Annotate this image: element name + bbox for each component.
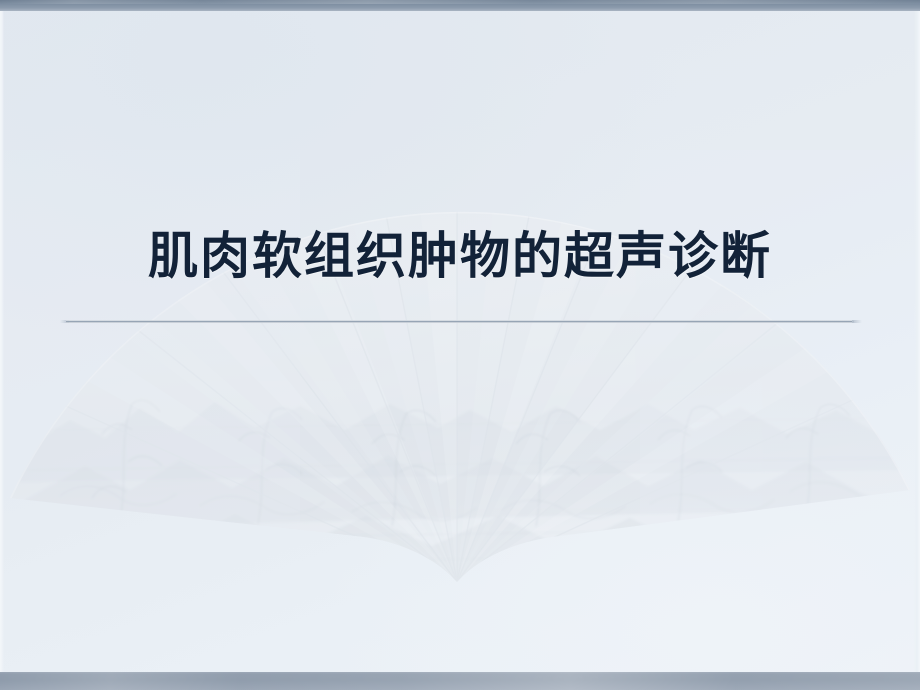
slide-background <box>0 0 920 690</box>
title-divider-rule <box>66 320 854 323</box>
presentation-slide: 肌肉软组织肿物的超声诊断 <box>0 0 920 690</box>
bottom-frame-bar-sheen <box>0 672 920 690</box>
bottom-frame-bar <box>0 672 920 690</box>
left-frame-edge <box>0 11 4 672</box>
divider-right-cap <box>852 320 862 323</box>
slide-title: 肌肉软组织肿物的超声诊断 <box>0 228 920 283</box>
right-frame-edge <box>914 11 920 672</box>
top-frame-bar-sheen <box>0 0 920 4</box>
top-frame-bar <box>0 0 920 11</box>
